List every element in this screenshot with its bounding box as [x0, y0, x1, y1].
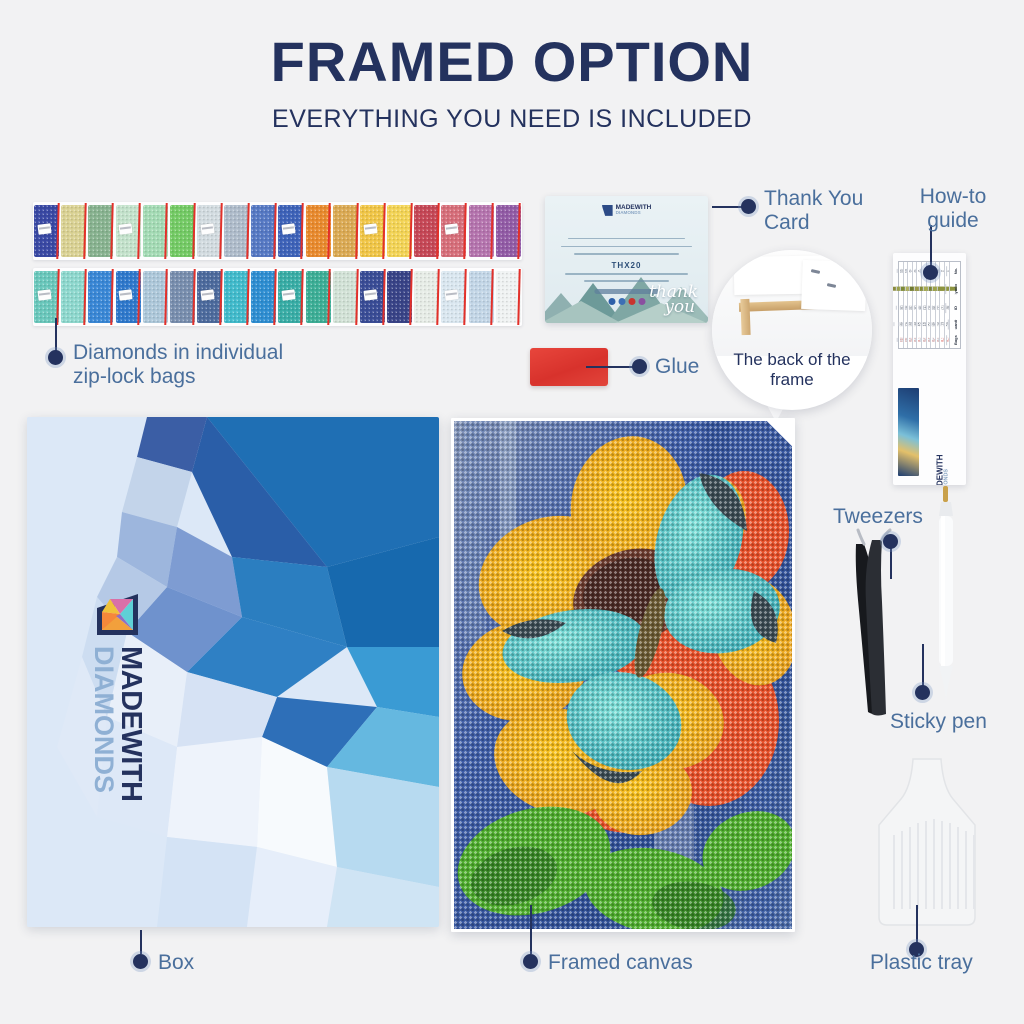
zip-lock-bag	[359, 202, 386, 260]
zip-lock-bag	[87, 268, 114, 326]
zip-seal	[436, 203, 439, 259]
callout-dot-diamonds	[48, 350, 63, 365]
zip-seal	[273, 269, 276, 325]
tweezers	[846, 528, 906, 718]
box-brand-lockup: MADEWITH DIAMONDS	[91, 592, 145, 801]
zip-lock-bag	[250, 202, 277, 260]
bag-label	[363, 289, 377, 300]
zip-lock-bag	[305, 202, 332, 260]
callout-label-howto: How-to guide	[893, 185, 1013, 232]
card-logo: MADEWITHDIAMONDS	[602, 205, 652, 216]
zip-lock-bag	[169, 202, 196, 260]
card-text-line-3	[574, 253, 678, 254]
canvas-peel-corner	[766, 421, 792, 447]
infographic-stage: FRAMED OPTION EVERYTHING YOU NEED IS INC…	[0, 0, 1024, 1024]
zip-lock-bag	[468, 268, 495, 326]
bag-label	[119, 289, 133, 300]
diamond-beads	[61, 205, 86, 256]
guide-table-header: No.	[946, 266, 964, 276]
zip-lock-bag	[277, 202, 304, 260]
callout-dot-tweezers	[883, 534, 898, 549]
zip-seal	[409, 269, 412, 325]
diamond-beads	[170, 205, 195, 256]
card-script-text: thank you	[649, 285, 698, 316]
zip-bag-row-top	[33, 202, 522, 260]
callout-label-tweezers: Tweezers	[833, 505, 923, 529]
zip-lock-bag	[495, 202, 522, 260]
diamond-beads	[61, 271, 86, 322]
zip-lock-bag	[440, 268, 467, 326]
zip-lock-bag	[114, 268, 141, 326]
zip-lock-bag	[142, 268, 169, 326]
zip-lock-bag	[60, 202, 87, 260]
callout-dot-thankyou	[741, 199, 756, 214]
sticky-pen-svg	[930, 486, 962, 706]
guide-preview-image	[898, 388, 918, 476]
leader-line-stickypen	[922, 644, 924, 686]
zip-seal	[56, 269, 59, 325]
callout-label-stickypen: Sticky pen	[890, 710, 987, 734]
how-to-guide: 11561344B1110446704B109453246BL98161248B…	[893, 253, 966, 485]
zip-seal	[436, 269, 439, 325]
zip-seal	[463, 203, 466, 259]
guide-table-header: Quantity	[947, 319, 962, 329]
card-script-line-2: you	[661, 300, 698, 315]
card-text-line-4	[565, 273, 689, 274]
callout-dot-glue	[632, 359, 647, 374]
callout-dot-howto	[923, 265, 938, 280]
diamond-beads	[387, 205, 412, 256]
zip-seal	[273, 203, 276, 259]
zip-lock-bag	[196, 202, 223, 260]
diamond-beads	[387, 271, 412, 322]
callout-label-diamonds: Diamonds in individual zip-lock bags	[73, 341, 373, 388]
zip-lock-bag	[250, 268, 277, 326]
zip-lock-bag	[87, 202, 114, 260]
zip-lock-bag	[114, 202, 141, 260]
diamond-beads	[333, 205, 358, 256]
card-social-icons	[608, 298, 645, 305]
bag-label	[363, 223, 377, 234]
bag-label	[200, 289, 214, 300]
bag-label	[282, 223, 296, 234]
zip-seal	[246, 269, 249, 325]
facebook-icon	[608, 298, 615, 305]
bag-label	[37, 223, 51, 234]
guide-table-header-column: No.SymbolIDQuantityBags	[949, 262, 960, 348]
zip-seal	[463, 269, 466, 325]
diamond-beads	[170, 271, 195, 322]
artwork-svg	[454, 421, 792, 929]
messenger-icon	[618, 298, 625, 305]
box-brand-line2: DIAMONDS	[91, 646, 117, 801]
zip-lock-bag	[413, 202, 440, 260]
zip-lock-bag	[386, 202, 413, 260]
zip-lock-bag	[332, 268, 359, 326]
logo-mark-svg	[95, 592, 140, 637]
diamond-beads	[224, 271, 249, 322]
framed-canvas	[451, 418, 795, 932]
frame-wood-vertical	[740, 298, 750, 334]
card-brand-sub: DIAMONDS	[616, 211, 652, 216]
zip-lock-bag	[359, 268, 386, 326]
zip-seal	[246, 203, 249, 259]
callout-dot-stickypen	[915, 685, 930, 700]
zip-seal	[83, 269, 86, 325]
zip-lock-bag	[495, 268, 522, 326]
callout-dot-canvas	[523, 954, 538, 969]
guide-table-header: Symbol	[945, 284, 965, 294]
zip-lock-bag	[142, 202, 169, 260]
callout-label-glue: Glue	[655, 355, 699, 379]
zip-lock-bag	[468, 202, 495, 260]
zip-lock-bag	[196, 268, 223, 326]
bag-label	[200, 223, 214, 234]
zip-lock-bag	[33, 202, 60, 260]
card-brand: MADEWITHDIAMONDS	[616, 205, 652, 216]
logo-mark-icon	[95, 592, 140, 637]
callout-label-box: Box	[158, 951, 194, 975]
plastic-tray-svg	[872, 757, 996, 932]
leader-line-tweezers	[890, 545, 892, 579]
pinterest-icon	[628, 298, 635, 305]
box-brand-line1: MADEWITH	[115, 646, 147, 801]
tweezers-svg	[846, 528, 906, 718]
bag-label	[445, 223, 459, 234]
zip-lock-bag	[332, 202, 359, 260]
callout-label-thankyou: Thank You Card	[764, 187, 894, 234]
product-box: MADEWITH DIAMONDS	[27, 417, 439, 927]
zip-bag-row-bottom	[33, 268, 522, 326]
zip-lock-bag	[386, 268, 413, 326]
zip-lock-bag	[305, 268, 332, 326]
zip-lock-bag	[223, 268, 250, 326]
card-text-line-2	[561, 246, 691, 247]
zip-lock-bag	[277, 268, 304, 326]
zip-seal	[83, 203, 86, 259]
guide-logo: MADEWITHDIAMONDS	[937, 455, 950, 485]
card-discount-code: THX20	[545, 261, 708, 270]
diamond-beads	[333, 271, 358, 322]
bubble-caption: The back of the frame	[712, 350, 872, 389]
page-subtitle: EVERYTHING YOU NEED IS INCLUDED	[0, 107, 1024, 132]
leader-line-canvas	[530, 905, 532, 954]
sticky-pen	[930, 486, 962, 706]
bag-label	[37, 289, 51, 300]
zip-seal	[110, 203, 113, 259]
zip-seal	[409, 203, 412, 259]
bag-label	[445, 289, 459, 300]
guide-table-header: Bags	[946, 335, 964, 345]
logo-mark-icon	[602, 205, 613, 216]
bag-label	[282, 289, 296, 300]
leader-line-glue	[586, 366, 638, 368]
leader-line-box	[140, 930, 142, 954]
canvas-artwork	[454, 421, 792, 929]
zip-lock-bag	[60, 268, 87, 326]
guide-brand-sub: DIAMONDS	[945, 455, 950, 485]
guide-table-header: ID	[945, 303, 965, 313]
instagram-icon	[638, 298, 645, 305]
callout-label-canvas: Framed canvas	[548, 951, 693, 975]
callout-label-tray: Plastic tray	[870, 951, 973, 975]
diamond-beads	[224, 205, 249, 256]
plastic-tray	[872, 757, 996, 932]
callout-dot-box	[133, 954, 148, 969]
bag-label	[119, 223, 133, 234]
page-title: FRAMED OPTION	[0, 34, 1024, 90]
frame-back-bubble: The back of the frame	[712, 250, 872, 410]
box-brand-text: MADEWITH DIAMONDS	[91, 646, 145, 801]
zip-lock-bag	[223, 202, 250, 260]
zip-lock-bag	[440, 202, 467, 260]
zip-seal	[300, 269, 303, 325]
thank-you-card: MADEWITHDIAMONDS THX20 thank you	[545, 196, 708, 323]
zip-lock-bag	[413, 268, 440, 326]
leader-line-tray	[916, 905, 918, 943]
frame-photo	[712, 250, 872, 356]
zip-seal	[56, 203, 59, 259]
zip-seal	[110, 269, 113, 325]
guide-brand-name: MADEWITHDIAMONDS	[937, 455, 950, 485]
leader-line-diamonds	[55, 318, 57, 351]
zip-seal	[300, 203, 303, 259]
zip-lock-bag	[169, 268, 196, 326]
